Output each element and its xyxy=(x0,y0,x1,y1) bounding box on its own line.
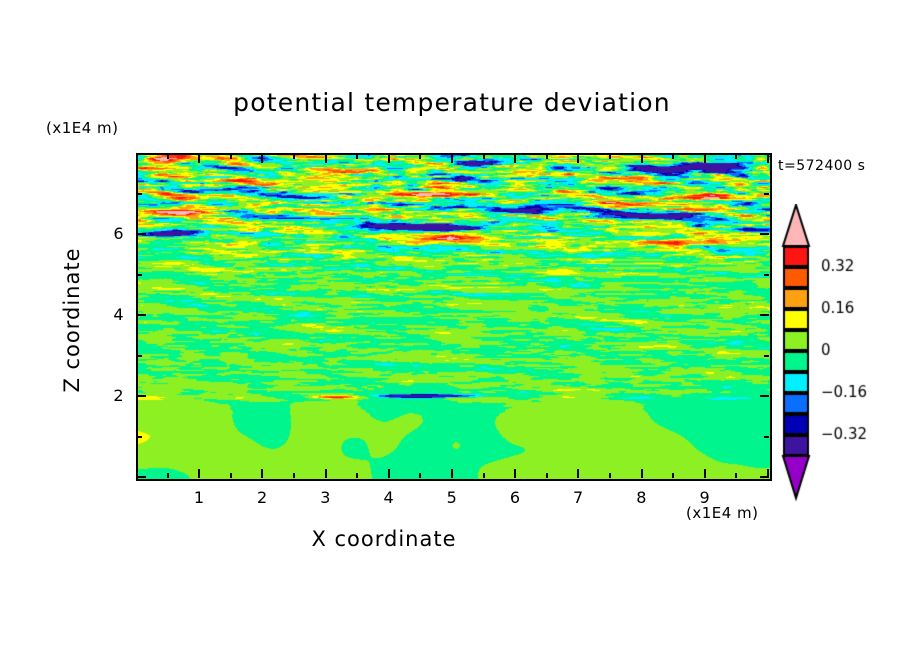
y-axis-tick xyxy=(764,436,769,438)
x-axis-tick xyxy=(325,469,327,478)
x-axis-tick-label: 2 xyxy=(242,488,282,507)
page-title: potential temperature deviation xyxy=(0,88,904,117)
x-axis-tick xyxy=(672,154,674,159)
y-axis-tick xyxy=(137,233,146,235)
x-axis-tick xyxy=(230,473,232,478)
y-axis-tick xyxy=(760,395,769,397)
y-axis-tick xyxy=(764,355,769,357)
x-axis-tick-label: 3 xyxy=(306,488,346,507)
y-axis-unit-label: (x1E4 m) xyxy=(46,119,119,137)
time-annotation: t=572400 s xyxy=(778,158,865,174)
x-axis-tick xyxy=(546,473,548,478)
x-axis-tick xyxy=(514,154,516,163)
colorbar xyxy=(781,204,897,524)
x-axis-unit-label: (x1E4 m) xyxy=(686,504,759,522)
x-axis-tick xyxy=(483,473,485,478)
x-axis-tick xyxy=(735,154,737,159)
x-axis-tick xyxy=(419,473,421,478)
y-axis-tick xyxy=(137,193,142,195)
x-axis-tick-label: 6 xyxy=(495,488,535,507)
x-axis-tick-label: 7 xyxy=(558,488,598,507)
x-axis-tick xyxy=(419,154,421,159)
x-axis-tick xyxy=(388,469,390,478)
x-axis-tick xyxy=(293,473,295,478)
x-axis-tick xyxy=(261,469,263,478)
contour-field-canvas xyxy=(138,155,770,479)
x-axis-tick xyxy=(483,154,485,159)
x-axis-tick xyxy=(609,154,611,159)
y-axis-tick xyxy=(137,314,146,316)
x-axis-tick xyxy=(356,473,358,478)
x-axis-tick xyxy=(641,469,643,478)
y-axis-tick xyxy=(137,395,146,397)
x-axis-tick xyxy=(230,154,232,159)
y-axis-tick xyxy=(764,274,769,276)
x-axis-tick xyxy=(388,154,390,163)
x-axis-tick xyxy=(641,154,643,163)
x-axis-tick xyxy=(546,154,548,159)
x-axis-title: X coordinate xyxy=(0,527,768,551)
x-axis-tick xyxy=(198,154,200,163)
y-axis-tick xyxy=(137,436,142,438)
x-axis-tick xyxy=(577,154,579,163)
y-axis-tick xyxy=(760,233,769,235)
plot-area xyxy=(136,153,772,481)
x-axis-tick xyxy=(609,473,611,478)
x-axis-tick xyxy=(735,473,737,478)
x-axis-tick xyxy=(672,473,674,478)
x-axis-tick xyxy=(704,154,706,163)
y-axis-tick-label: 4 xyxy=(98,305,124,324)
x-axis-tick xyxy=(767,154,769,163)
x-axis-tick xyxy=(293,154,295,159)
x-axis-tick xyxy=(577,469,579,478)
contour-figure: potential temperature deviation (x1E4 m)… xyxy=(0,0,904,654)
x-axis-tick-label: 5 xyxy=(432,488,472,507)
x-axis-tick xyxy=(167,473,169,478)
x-axis-tick xyxy=(451,469,453,478)
x-axis-tick xyxy=(325,154,327,163)
x-axis-tick xyxy=(514,469,516,478)
y-axis-tick-label: 2 xyxy=(98,386,124,405)
x-axis-tick-label: 8 xyxy=(622,488,662,507)
x-axis-tick xyxy=(167,154,169,159)
x-axis-tick xyxy=(356,154,358,159)
x-axis-tick xyxy=(704,469,706,478)
y-axis-tick xyxy=(137,355,142,357)
y-axis-tick xyxy=(760,314,769,316)
y-axis-tick-label: 6 xyxy=(98,224,124,243)
x-axis-tick xyxy=(198,469,200,478)
y-axis-tick xyxy=(137,476,146,478)
colorbar-canvas xyxy=(781,204,897,520)
y-axis-tick xyxy=(137,274,142,276)
x-axis-tick-label: 4 xyxy=(369,488,409,507)
y-axis-tick xyxy=(760,476,769,478)
x-axis-tick xyxy=(451,154,453,163)
x-axis-tick xyxy=(261,154,263,163)
y-axis-title: Z coordinate xyxy=(60,220,84,420)
x-axis-tick-label: 1 xyxy=(179,488,219,507)
y-axis-tick xyxy=(764,193,769,195)
